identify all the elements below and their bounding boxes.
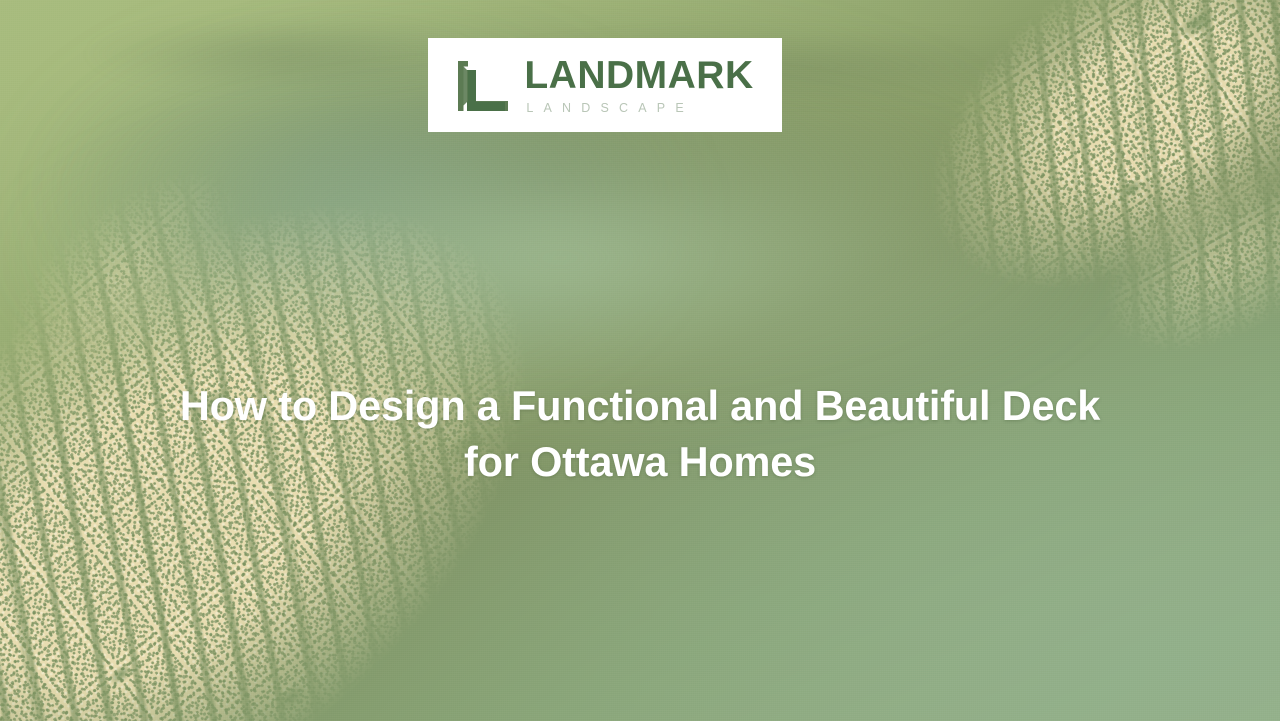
nested-corner-l-icon — [456, 59, 510, 113]
brand-logo-wordmark-group: LANDMARK LANDSCAPE — [524, 56, 753, 115]
brush-speckle-texture — [1051, 83, 1280, 416]
hero-banner: LANDMARK LANDSCAPE How to Design a Funct… — [0, 0, 1280, 721]
brush-streak-texture — [827, 0, 1280, 406]
brush-speckle-texture — [827, 0, 1280, 406]
brand-subword: LANDSCAPE — [524, 102, 753, 115]
brush-streak-texture — [1051, 83, 1280, 416]
top-right-gold-brush-tail — [1051, 83, 1280, 416]
hero-title: How to Design a Functional and Beautiful… — [0, 378, 1280, 491]
brand-logo-card[interactable]: LANDMARK LANDSCAPE — [428, 38, 782, 132]
top-right-gold-brush-stroke — [827, 0, 1280, 406]
brush-blotch-texture — [827, 0, 1280, 406]
brand-wordmark: LANDMARK — [524, 56, 753, 95]
